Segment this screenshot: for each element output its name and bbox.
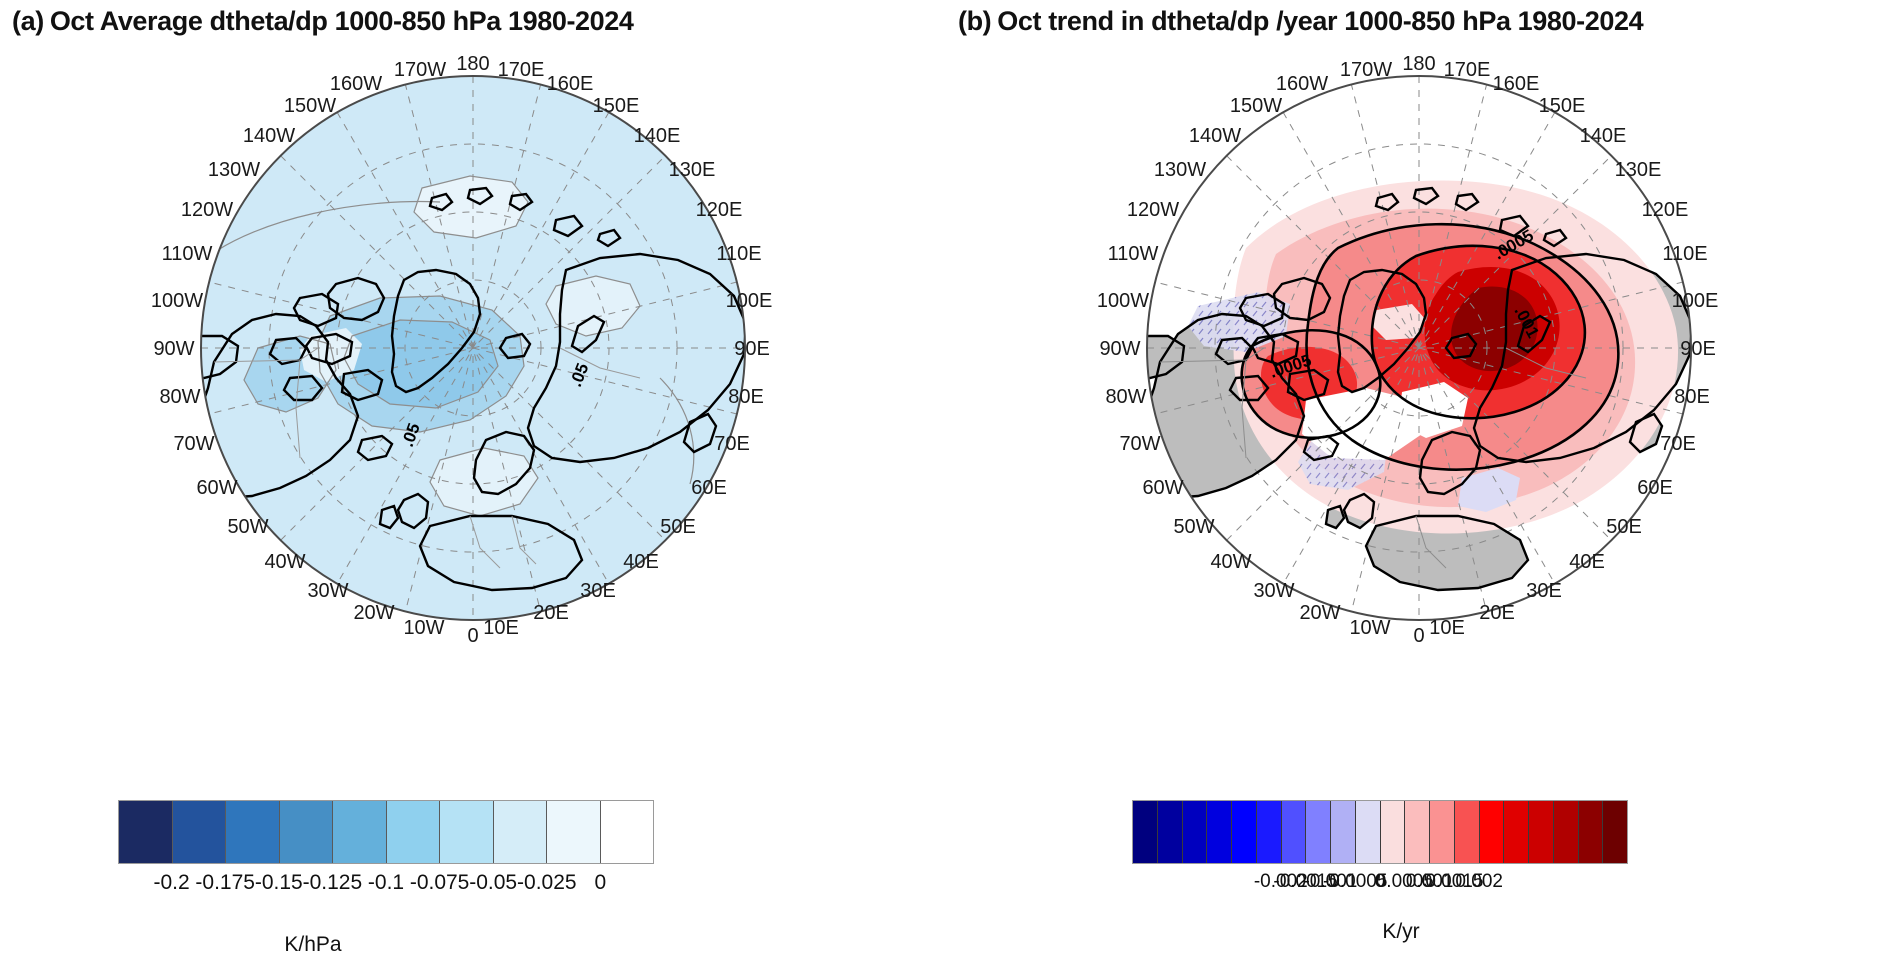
svg-text:120W: 120W	[181, 199, 233, 221]
svg-text:90E: 90E	[1680, 338, 1716, 360]
colorbar-cell-4	[1231, 801, 1256, 863]
colorbar-cell-5	[1256, 801, 1281, 863]
svg-text:50W: 50W	[227, 516, 268, 538]
svg-text:100E: 100E	[1672, 290, 1719, 312]
panel-b-title-text: Oct trend in dtheta/dp /year 1000-850 hP…	[997, 6, 1643, 36]
svg-text:130E: 130E	[669, 159, 716, 181]
colorbar-cell-1	[1157, 801, 1182, 863]
colorbar-cell-5	[386, 801, 440, 863]
colorbar-b-ticks: -0.002-0.0015-0.001-0.000500.00050.0010.…	[946, 871, 1892, 901]
svg-text:20E: 20E	[533, 602, 569, 624]
svg-text:30W: 30W	[1253, 580, 1294, 602]
svg-text:130W: 130W	[1154, 159, 1206, 181]
svg-text:120W: 120W	[1127, 199, 1179, 221]
svg-text:140W: 140W	[243, 125, 295, 147]
svg-text:50E: 50E	[1606, 516, 1642, 538]
colorbar-cell-0	[119, 801, 172, 863]
colorbar-cell-18	[1578, 801, 1603, 863]
colorbar-cell-12	[1429, 801, 1454, 863]
svg-text:170W: 170W	[1340, 59, 1392, 81]
colorbar-b: -0.002-0.0015-0.001-0.000500.00050.0010.…	[946, 800, 1892, 901]
svg-text:160E: 160E	[547, 73, 594, 95]
svg-text:110W: 110W	[162, 243, 213, 265]
svg-text:0: 0	[1413, 625, 1424, 647]
colorbar-a: -0.2-0.175-0.15-0.125-0.1-0.075-0.05-0.0…	[0, 800, 946, 901]
svg-text:30E: 30E	[1526, 580, 1562, 602]
svg-text:40E: 40E	[1569, 551, 1605, 573]
colorbar-tick-8: 0.002	[1455, 871, 1503, 893]
svg-text:80W: 80W	[159, 386, 200, 408]
svg-text:160W: 160W	[1276, 73, 1328, 95]
panel-a: (a)Oct Average dtheta/dp 1000-850 hPa 19…	[0, 0, 946, 966]
svg-text:10E: 10E	[483, 617, 519, 639]
colorbar-b-unit: K/yr	[928, 920, 1874, 944]
colorbar-cell-2	[1182, 801, 1207, 863]
colorbar-tick-1: -0.175	[195, 871, 255, 895]
colorbar-cell-7	[1305, 801, 1330, 863]
colorbar-cell-14	[1479, 801, 1504, 863]
panel-b-title: (b)Oct trend in dtheta/dp /year 1000-850…	[958, 6, 1643, 37]
map-a: .05 .05 180 170E 160E 150E 140E 130E 120…	[0, 48, 946, 648]
svg-text:20W: 20W	[1299, 602, 1340, 624]
svg-text:30W: 30W	[307, 580, 348, 602]
svg-text:140E: 140E	[634, 125, 681, 147]
panel-a-title-text: Oct Average dtheta/dp 1000-850 hPa 1980-…	[50, 6, 634, 36]
svg-text:80E: 80E	[1674, 386, 1710, 408]
svg-text:10W: 10W	[1349, 617, 1390, 639]
svg-text:130W: 130W	[208, 159, 260, 181]
colorbar-cell-0	[1133, 801, 1157, 863]
colorbar-tick-8: 0	[595, 871, 607, 895]
colorbar-tick-2: -0.15	[255, 871, 303, 895]
svg-text:160E: 160E	[1493, 73, 1540, 95]
svg-text:40W: 40W	[1210, 551, 1251, 573]
colorbar-cell-11	[1404, 801, 1429, 863]
map-b: .001 .0005 .0005 180 170E 160E 150E 140E…	[946, 48, 1892, 648]
svg-text:170E: 170E	[1444, 59, 1491, 81]
colorbar-cell-9	[600, 801, 654, 863]
panel-a-tag: (a)	[12, 6, 44, 36]
svg-text:70E: 70E	[714, 433, 750, 455]
colorbar-a-strip	[118, 800, 654, 864]
svg-text:50W: 50W	[1173, 516, 1214, 538]
svg-text:60W: 60W	[196, 477, 237, 499]
svg-text:70W: 70W	[1119, 433, 1160, 455]
svg-text:20E: 20E	[1479, 602, 1515, 624]
colorbar-cell-16	[1528, 801, 1553, 863]
colorbar-cell-2	[225, 801, 279, 863]
svg-text:150E: 150E	[593, 95, 640, 117]
svg-text:100E: 100E	[726, 290, 773, 312]
colorbar-cell-9	[1355, 801, 1380, 863]
svg-text:40E: 40E	[623, 551, 659, 573]
svg-text:80W: 80W	[1105, 386, 1146, 408]
svg-text:80E: 80E	[728, 386, 764, 408]
svg-text:150W: 150W	[1230, 95, 1282, 117]
colorbar-tick-7: -0.025	[517, 871, 577, 895]
panel-b: (b)Oct trend in dtheta/dp /year 1000-850…	[946, 0, 1892, 966]
colorbar-tick-0: -0.2	[154, 871, 190, 895]
svg-text:70E: 70E	[1660, 433, 1696, 455]
colorbar-cell-15	[1503, 801, 1528, 863]
svg-text:180: 180	[1402, 53, 1435, 75]
svg-text:90E: 90E	[734, 338, 770, 360]
colorbar-cell-8	[1330, 801, 1355, 863]
colorbar-cell-7	[493, 801, 547, 863]
colorbar-a-ticks: -0.2-0.175-0.15-0.125-0.1-0.075-0.05-0.0…	[0, 871, 946, 901]
svg-text:0: 0	[467, 625, 478, 647]
svg-text:180: 180	[456, 53, 489, 75]
colorbar-tick-6: -0.05	[469, 871, 517, 895]
svg-text:170W: 170W	[394, 59, 446, 81]
svg-text:60E: 60E	[1637, 477, 1673, 499]
svg-text:20W: 20W	[353, 602, 394, 624]
colorbar-b-strip	[1132, 800, 1628, 864]
colorbar-tick-5: -0.075	[410, 871, 470, 895]
colorbar-cell-6	[439, 801, 493, 863]
svg-text:60W: 60W	[1142, 477, 1183, 499]
colorbar-a-unit: K/hPa	[0, 933, 786, 957]
svg-text:140W: 140W	[1189, 125, 1241, 147]
svg-text:90W: 90W	[153, 338, 194, 360]
svg-text:150E: 150E	[1539, 95, 1586, 117]
polar-map-b: .001 .0005 .0005 180 170E 160E 150E 140E…	[946, 48, 1892, 648]
svg-text:110W: 110W	[1108, 243, 1159, 265]
svg-text:160W: 160W	[330, 73, 382, 95]
colorbar-cell-6	[1281, 801, 1306, 863]
colorbar-cell-3	[1206, 801, 1231, 863]
colorbar-cell-4	[332, 801, 386, 863]
svg-text:40W: 40W	[264, 551, 305, 573]
svg-text:60E: 60E	[691, 477, 727, 499]
colorbar-cell-17	[1553, 801, 1578, 863]
svg-text:110E: 110E	[716, 243, 761, 265]
panel-a-title: (a)Oct Average dtheta/dp 1000-850 hPa 19…	[12, 6, 634, 37]
colorbar-cell-8	[546, 801, 600, 863]
colorbar-cell-10	[1380, 801, 1405, 863]
svg-text:100W: 100W	[151, 290, 203, 312]
colorbar-cell-19	[1602, 801, 1627, 863]
svg-text:150W: 150W	[284, 95, 336, 117]
colorbar-tick-4: -0.1	[368, 871, 404, 895]
colorbar-cell-13	[1454, 801, 1479, 863]
colorbar-tick-3: -0.125	[303, 871, 363, 895]
polar-map-a: .05 .05 180 170E 160E 150E 140E 130E 120…	[0, 48, 946, 648]
svg-text:140E: 140E	[1580, 125, 1627, 147]
svg-text:120E: 120E	[1642, 199, 1689, 221]
colorbar-cell-1	[172, 801, 226, 863]
svg-text:10E: 10E	[1429, 617, 1465, 639]
svg-text:90W: 90W	[1099, 338, 1140, 360]
svg-text:130E: 130E	[1615, 159, 1662, 181]
svg-text:100W: 100W	[1097, 290, 1149, 312]
svg-text:170E: 170E	[498, 59, 545, 81]
panel-b-tag: (b)	[958, 6, 991, 36]
svg-text:30E: 30E	[580, 580, 616, 602]
svg-text:70W: 70W	[173, 433, 214, 455]
colorbar-cell-3	[279, 801, 333, 863]
svg-text:10W: 10W	[403, 617, 444, 639]
svg-text:120E: 120E	[696, 199, 743, 221]
svg-text:50E: 50E	[660, 516, 696, 538]
svg-text:110E: 110E	[1662, 243, 1707, 265]
